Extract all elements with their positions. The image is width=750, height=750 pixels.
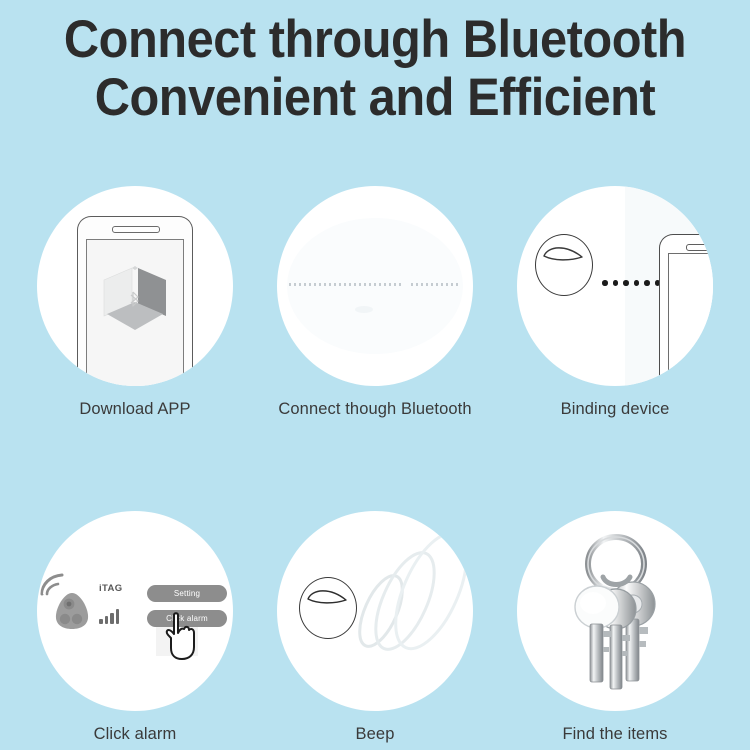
step-caption: Connect though Bluetooth [278, 400, 471, 419]
step-beep[interactable]: Beep [270, 511, 480, 744]
steps-row-top: Download APP Connect though Bluetooth [0, 186, 750, 419]
hand-cursor-icon [163, 611, 201, 661]
page-title: Connect through Bluetooth Convenient and… [0, 14, 750, 124]
device-label: iTAG [99, 583, 123, 594]
step-caption: Click alarm [94, 725, 177, 744]
step-caption: Beep [356, 725, 395, 744]
dash-segment-left [289, 283, 402, 286]
page-title-line-2: Convenient and Efficient [30, 72, 720, 124]
keys-icon [559, 531, 674, 696]
step-connect-bluetooth-illustration [277, 186, 473, 386]
step-caption: Binding device [561, 400, 670, 419]
step-click-alarm-illustration: iTAG Setting Click alarm [37, 511, 233, 711]
step-connect-bluetooth[interactable]: Connect though Bluetooth [270, 186, 480, 419]
phone-corner-icon [659, 234, 713, 384]
phone-screen [668, 253, 713, 385]
step-binding-device-illustration [517, 186, 713, 386]
faint-oval-shape [287, 218, 463, 354]
step-find-items-illustration [517, 511, 713, 711]
page-title-line-1: Connect through Bluetooth [30, 14, 720, 66]
connection-dots-icon [602, 280, 660, 286]
steps-grid: Download APP Connect though Bluetooth [0, 186, 750, 744]
tag-lens-icon [542, 245, 586, 267]
step-download-app[interactable]: Download APP [30, 186, 240, 419]
phone-speaker-icon [112, 226, 160, 233]
dotted-link-icon [289, 283, 461, 286]
phone-speaker-icon [686, 244, 713, 251]
step-caption: Find the items [562, 725, 667, 744]
signal-bars-icon [99, 609, 119, 624]
step-click-alarm[interactable]: iTAG Setting Click alarm Click alarm [30, 511, 240, 744]
tracker-tag-icon [535, 234, 593, 296]
dash-segment-right [411, 283, 461, 286]
sound-waves-icon [355, 533, 470, 683]
tag-lens-icon [306, 588, 350, 610]
step-caption: Download APP [79, 400, 190, 419]
step-find-items[interactable]: Find the items [510, 511, 720, 744]
step-binding-device[interactable]: Binding device [510, 186, 720, 419]
app-cube-icon [102, 264, 168, 334]
faint-blob [355, 306, 373, 313]
tracker-tag-icon [299, 577, 357, 639]
setting-button[interactable]: Setting [147, 585, 227, 602]
step-download-app-illustration [37, 186, 233, 386]
steps-row-bottom: iTAG Setting Click alarm Click alarm [0, 511, 750, 744]
itag-device-icon [53, 591, 91, 631]
step-beep-illustration [277, 511, 473, 711]
